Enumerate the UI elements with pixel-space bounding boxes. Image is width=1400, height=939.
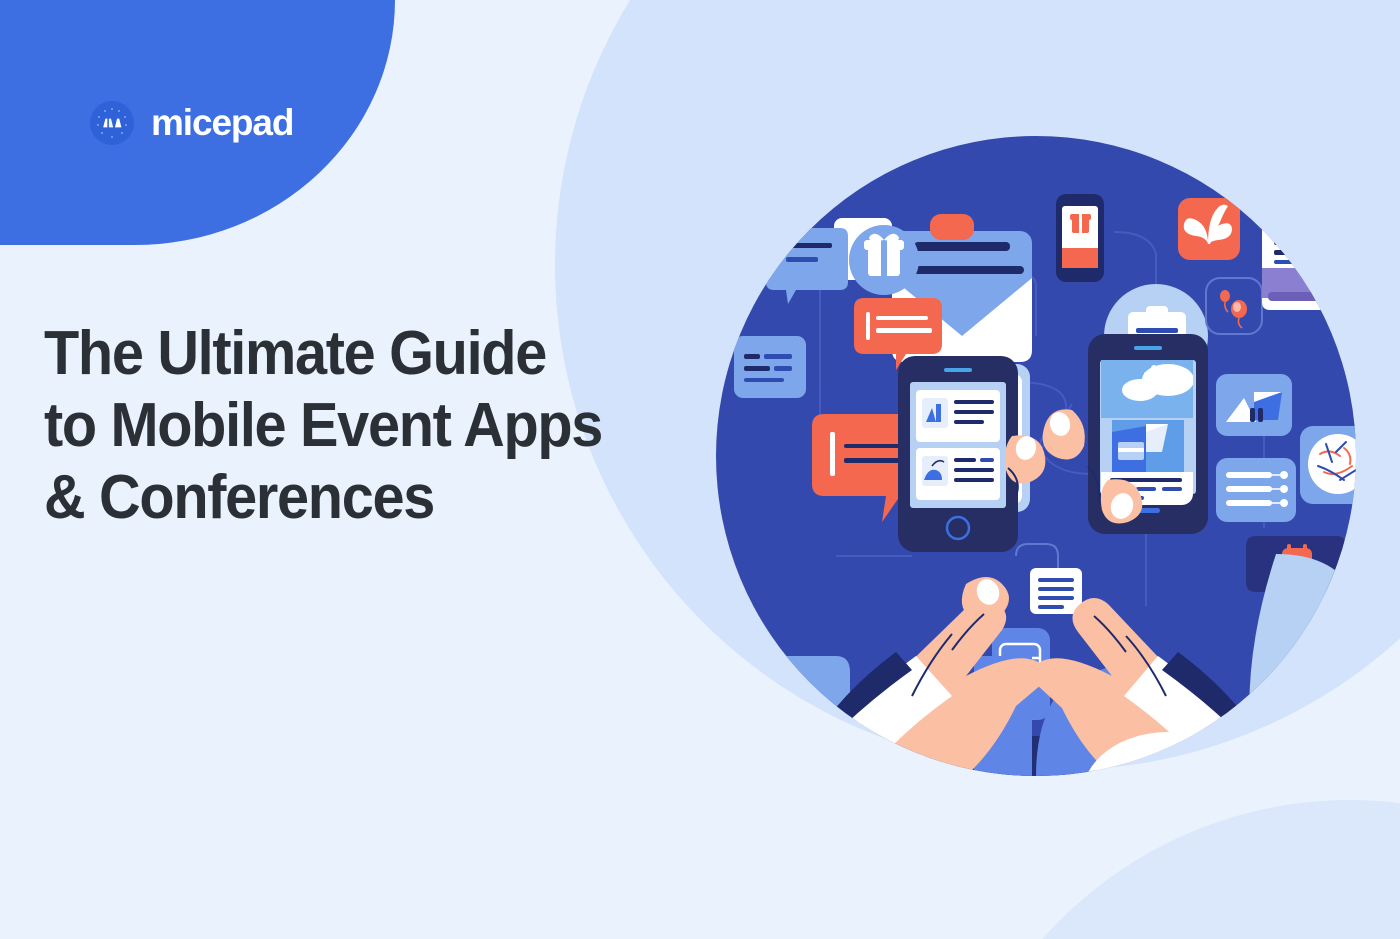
logo[interactable]: micepad: [90, 101, 293, 145]
title-line-2: to Mobile Event Apps: [44, 390, 695, 462]
page-title: The Ultimate Guide to Mobile Event Apps …: [44, 318, 695, 534]
micepad-m-mark-icon: [90, 101, 134, 145]
hero-illustration: 7: [716, 136, 1356, 776]
poster-canvas: micepad The Ultimate Guide to Mobile Eve…: [0, 0, 1400, 939]
document-icon: [734, 336, 806, 398]
landscape-photo-icon: [1216, 374, 1292, 436]
title-line-1: The Ultimate Guide: [44, 318, 695, 390]
title-line-3: & Conferences: [44, 462, 695, 534]
background-circle-bottom: [940, 800, 1400, 939]
gift-box-circle-icon: [849, 225, 919, 295]
brand-wordmark: micepad: [151, 104, 293, 141]
scribble-globe-icon: [1300, 426, 1356, 504]
illustration-canvas: 7: [716, 136, 1356, 776]
plant-leaf-icon: [1178, 198, 1240, 260]
card-stack-icon: [1262, 228, 1328, 310]
smartphone-left-icon: [898, 356, 1018, 552]
checklist-icon: [1216, 458, 1296, 522]
abstract-shape: [738, 656, 850, 776]
brand-lockup: micepad: [0, 0, 395, 245]
